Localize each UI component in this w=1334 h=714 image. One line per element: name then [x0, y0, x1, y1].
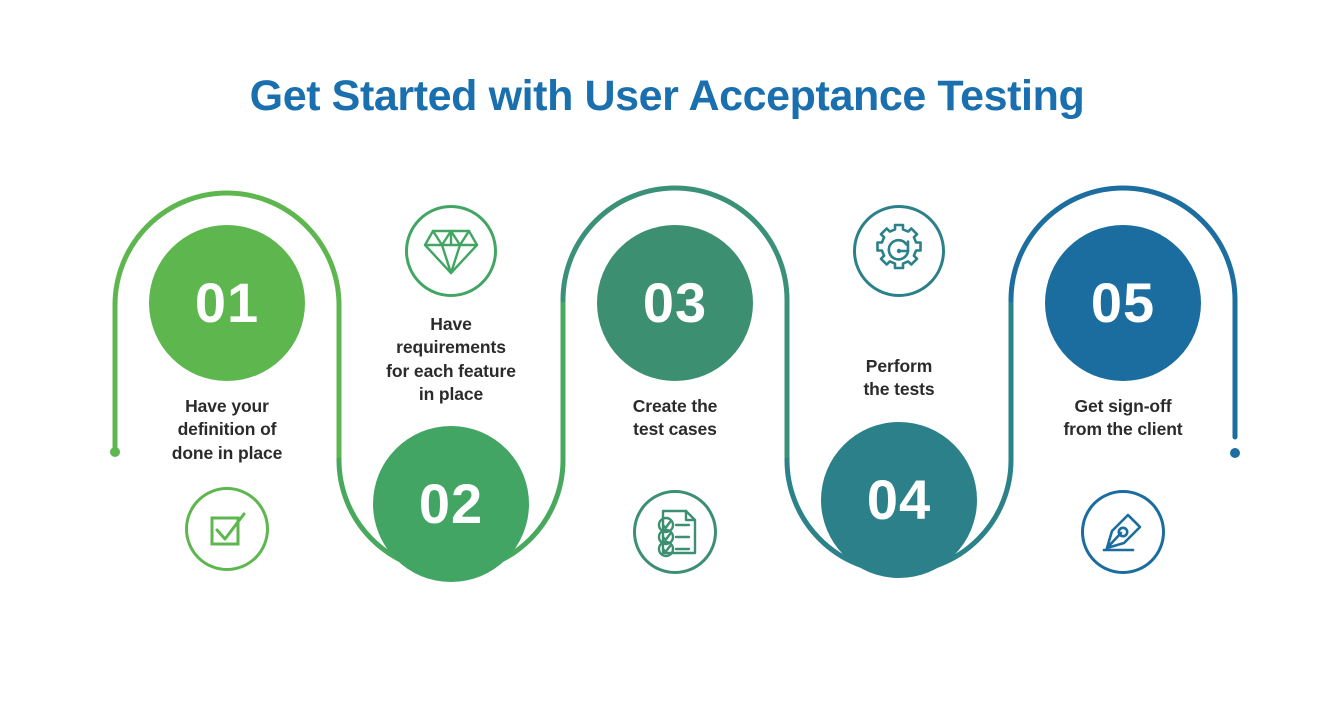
step-number-circle-04[interactable]: 04 [821, 422, 977, 578]
page-title: Get Started with User Acceptance Testing [0, 72, 1334, 121]
step-number-circle-05[interactable]: 05 [1045, 225, 1201, 381]
checkbox-check-icon [185, 487, 269, 571]
step-number-05: 05 [1091, 275, 1155, 331]
checklist-document-icon [633, 490, 717, 574]
step-column-04[interactable]: Perform the tests 04 [784, 205, 1014, 578]
step-number-04: 04 [867, 472, 931, 528]
step-number-circle-03[interactable]: 03 [597, 225, 753, 381]
step-column-05[interactable]: 05 Get sign-off from the client [1008, 225, 1238, 574]
step-label-03: Create the test cases [560, 395, 790, 442]
step-label-04: Perform the tests [784, 355, 1014, 402]
fountain-pen-signature-icon [1081, 490, 1165, 574]
step-column-02[interactable]: Have requirements for each feature in pl… [336, 205, 566, 582]
step-label-02: Have requirements for each feature in pl… [336, 313, 566, 406]
step-number-circle-02[interactable]: 02 [373, 426, 529, 582]
step-number-circle-01[interactable]: 01 [149, 225, 305, 381]
step-number-02: 02 [419, 476, 483, 532]
step-label-01: Have your definition of done in place [112, 395, 342, 465]
step-number-03: 03 [643, 275, 707, 331]
step-number-01: 01 [195, 275, 259, 331]
gear-refresh-icon [853, 205, 945, 297]
diamond-gem-icon [405, 205, 497, 297]
step-label-05: Get sign-off from the client [1008, 395, 1238, 442]
step-column-03[interactable]: 03 Create the test cases [560, 225, 790, 574]
step-column-01[interactable]: 01 Have your definition of done in place [112, 225, 342, 571]
infographic-canvas: Get Started with User Acceptance Testing… [0, 0, 1334, 714]
